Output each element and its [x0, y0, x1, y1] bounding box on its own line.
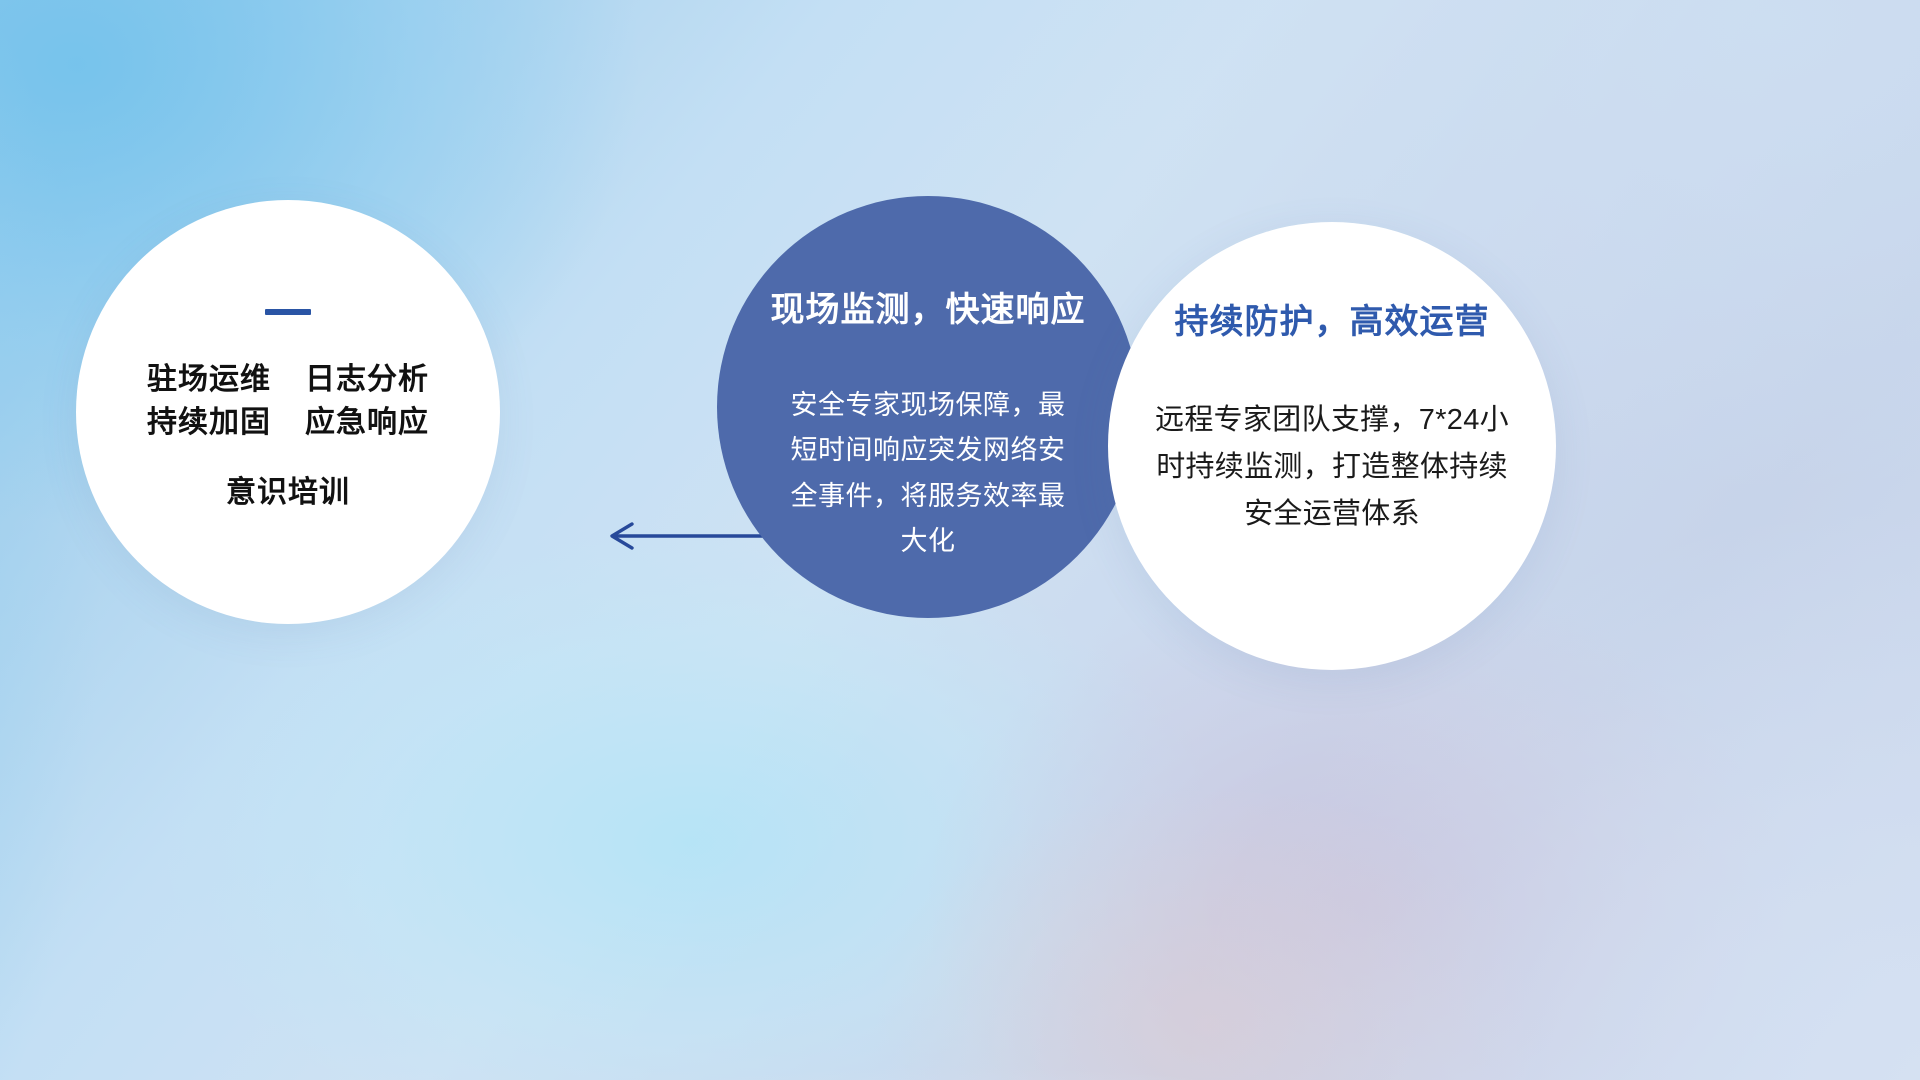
- capability-circle-left[interactable]: 驻场运维 日志分析 持续加固 应急响应 意识培训: [76, 200, 500, 624]
- keyword-item: 驻场运维: [147, 359, 271, 402]
- keyword-row: 持续加固 应急响应: [147, 402, 429, 445]
- capability-circle-right[interactable]: 持续防护，高效运营 远程专家团队支撑，7*24小时持续监测，打造整体持续安全运营…: [1108, 222, 1556, 670]
- keyword-row: 驻场运维 日志分析: [147, 359, 429, 402]
- accent-dash-icon: [265, 309, 311, 315]
- keyword-item: 应急响应: [305, 402, 429, 445]
- keyword-row: 意识培训: [226, 472, 350, 515]
- keyword-item: 日志分析: [305, 359, 429, 402]
- circle-body-text: 远程专家团队支撑，7*24小时持续监测，打造整体持续安全运营体系: [1146, 397, 1518, 538]
- circle-title: 持续防护，高效运营: [1175, 294, 1490, 343]
- circle-body-text: 安全专家现场保障，最短时间响应突发网络安全事件，将服务效率最大化: [778, 383, 1078, 564]
- circle-title: 现场监测，快速响应: [771, 282, 1086, 331]
- keyword-item: 意识培训: [226, 472, 350, 515]
- slide-canvas: 驻场运维 日志分析 持续加固 应急响应 意识培训 现场监测，快速响应 安全专家现…: [0, 0, 1920, 1080]
- capability-circle-middle[interactable]: 现场监测，快速响应 安全专家现场保障，最短时间响应突发网络安全事件，将服务效率最…: [717, 196, 1139, 618]
- keyword-item: 持续加固: [147, 402, 271, 445]
